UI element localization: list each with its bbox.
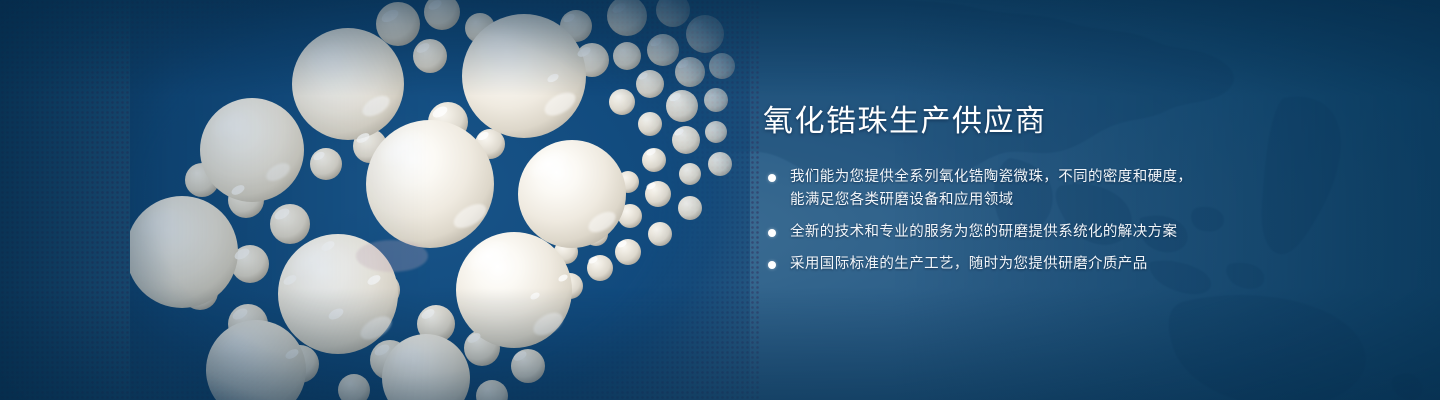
bullet-dot-icon [768,261,776,269]
list-item: 我们能为您提供全系列氧化锆陶瓷微珠，不同的密度和硬度， 能满足您各类研磨设备和应… [763,166,1383,212]
list-item: 全新的技术和专业的服务为您的研磨提供系统化的解决方案 [763,221,1383,244]
banner-content: 氧化锆珠生产供应商 我们能为您提供全系列氧化锆陶瓷微珠，不同的密度和硬度， 能满… [763,104,1383,276]
feature-list: 我们能为您提供全系列氧化锆陶瓷微珠，不同的密度和硬度， 能满足您各类研磨设备和应… [763,166,1383,276]
hero-banner: 氧化锆珠生产供应商 我们能为您提供全系列氧化锆陶瓷微珠，不同的密度和硬度， 能满… [0,0,1440,400]
list-item-line-2: 能满足您各类研磨设备和应用领域 [790,189,1383,212]
bullet-dot-icon [768,229,776,237]
list-item-line-1: 采用国际标准的生产工艺，随时为您提供研磨介质产品 [790,256,1148,272]
banner-headline: 氧化锆珠生产供应商 [763,104,1383,140]
list-item-line-1: 我们能为您提供全系列氧化锆陶瓷微珠，不同的密度和硬度， [790,169,1192,185]
bullet-dot-icon [768,174,776,182]
list-item-line-1: 全新的技术和专业的服务为您的研磨提供系统化的解决方案 [790,224,1177,240]
list-item: 采用国际标准的生产工艺，随时为您提供研磨介质产品 [763,253,1383,276]
